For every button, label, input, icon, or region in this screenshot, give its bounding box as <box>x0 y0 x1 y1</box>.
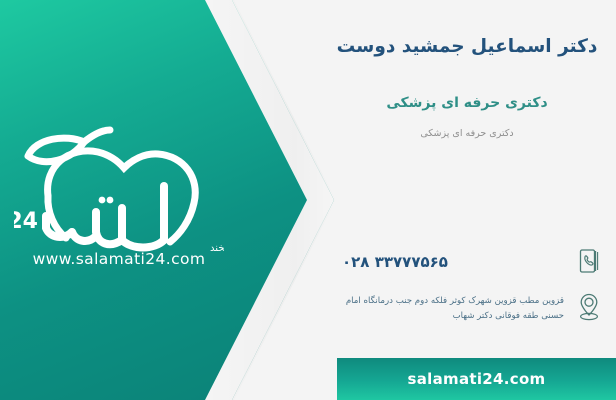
apple-logo-icon: 24 به راحتی یک لبخند <box>14 108 224 258</box>
logo-website-url: www.salamati24.com <box>14 250 224 268</box>
doctor-name: دکتر اسماعیل جمشید دوست <box>336 36 598 57</box>
footer-bar[interactable]: salamati24.com <box>337 358 616 400</box>
phone-number: ۳۳۷۷۷۵۶۵ ۰۲۸ <box>336 248 564 271</box>
card-content: دکتر اسماعیل جمشید دوست دکتری حرفه ای پز… <box>326 0 616 400</box>
phone-text-wrap: ۳۳۷۷۷۵۶۵ ۰۲۸ <box>336 248 564 271</box>
address-text-wrap: قزوین مطب قزوین شهرک کوثر فلکه دوم جنب د… <box>336 292 564 323</box>
brand-logo: 24 به راحتی یک لبخند www.salamati24.com <box>14 108 224 278</box>
address-text: قزوین مطب قزوین شهرک کوثر فلکه دوم جنب د… <box>336 292 564 323</box>
doctor-specialty: دکتری حرفه ای پزشکی <box>336 95 598 111</box>
phonebook-icon <box>574 248 604 282</box>
phone-row[interactable]: ۳۳۷۷۷۵۶۵ ۰۲۸ <box>336 248 604 282</box>
logo-badge-24: 24 <box>14 209 38 234</box>
location-pin-icon <box>574 292 604 326</box>
footer-website-url: salamati24.com <box>408 370 546 388</box>
doctor-specialty-secondary: دکتری حرفه ای پزشکی <box>336 128 598 139</box>
address-row[interactable]: قزوین مطب قزوین شهرک کوثر فلکه دوم جنب د… <box>336 292 604 326</box>
business-card: 24 به راحتی یک لبخند www.salamati24.com … <box>0 0 616 400</box>
